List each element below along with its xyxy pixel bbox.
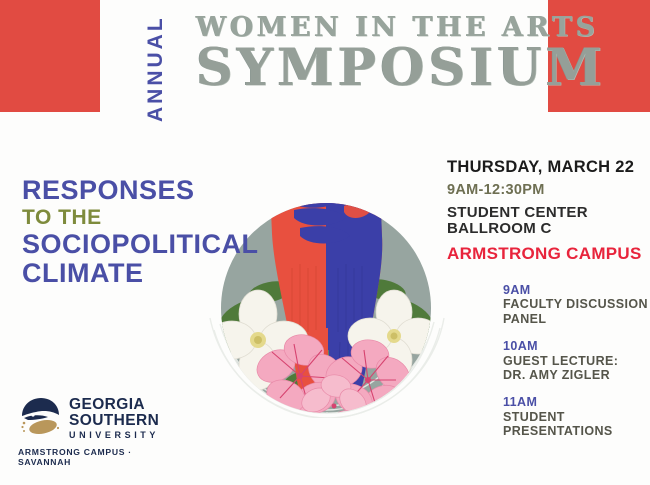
event-campus: ARMSTRONG CAMPUS (447, 244, 647, 264)
schedule-time: 9AM (503, 283, 648, 297)
headline-line-1: RESPONSES (22, 176, 237, 205)
logo-tagline: ARMSTRONG CAMPUS · SAVANNAH (18, 447, 183, 467)
schedule-time: 11AM (503, 395, 648, 409)
schedule-desc-line-1: GUEST LECTURE: (503, 354, 648, 368)
eagle-head-logo-mark (18, 396, 62, 440)
symposium-poster: ANNUAL WOMEN IN THE ARTS SYMPOSIUM RESPO… (0, 0, 650, 485)
university-wordmark: GEORGIA SOUTHERN UNIVERSITY (69, 397, 159, 440)
red-accent-block-left (0, 0, 100, 112)
university-logo: GEORGIA SOUTHERN UNIVERSITY ARMSTRONG CA… (18, 396, 183, 467)
annual-label: ANNUAL (144, 18, 174, 122)
title-line-1: WOMEN IN THE ARTS (196, 14, 606, 41)
event-time: 9AM-12:30PM (447, 182, 647, 198)
headline-line-3: SOCIOPOLITICAL (22, 230, 237, 259)
headline-line-4: CLIMATE (22, 259, 237, 288)
wordmark-line-1: GEORGIA (69, 397, 159, 413)
event-details: THURSDAY, MARCH 22 9AM-12:30PM STUDENT C… (447, 158, 647, 264)
event-venue-line-1: STUDENT CENTER (447, 205, 647, 221)
schedule-item: 11AM STUDENT PRESENTATIONS (503, 395, 648, 438)
headline-line-2: TO THE (22, 207, 237, 229)
schedule-time: 10AM (503, 339, 648, 353)
wordmark-line-3: UNIVERSITY (69, 431, 159, 440)
schedule-desc-line-2: PRESENTATIONS (503, 424, 648, 438)
event-date: THURSDAY, MARCH 22 (447, 158, 647, 177)
schedule-item: 9AM FACULTY DISCUSSION PANEL (503, 283, 648, 326)
event-venue-line-2: BALLROOM C (447, 221, 647, 237)
title-line-2: SYMPOSIUM (196, 43, 606, 94)
event-schedule: 9AM FACULTY DISCUSSION PANEL 10AM GUEST … (503, 283, 648, 451)
schedule-desc-line-2: DR. AMY ZIGLER (503, 368, 648, 382)
schedule-desc-line-2: PANEL (503, 312, 648, 326)
schedule-desc-line-1: FACULTY DISCUSSION (503, 297, 648, 311)
wordmark-line-2: SOUTHERN (69, 413, 159, 429)
schedule-desc-line-1: STUDENT (503, 410, 648, 424)
schedule-item: 10AM GUEST LECTURE: DR. AMY ZIGLER (503, 339, 648, 382)
headline-block: RESPONSES TO THE SOCIOPOLITICAL CLIMATE (22, 176, 237, 288)
poster-title: WOMEN IN THE ARTS SYMPOSIUM (196, 14, 606, 94)
